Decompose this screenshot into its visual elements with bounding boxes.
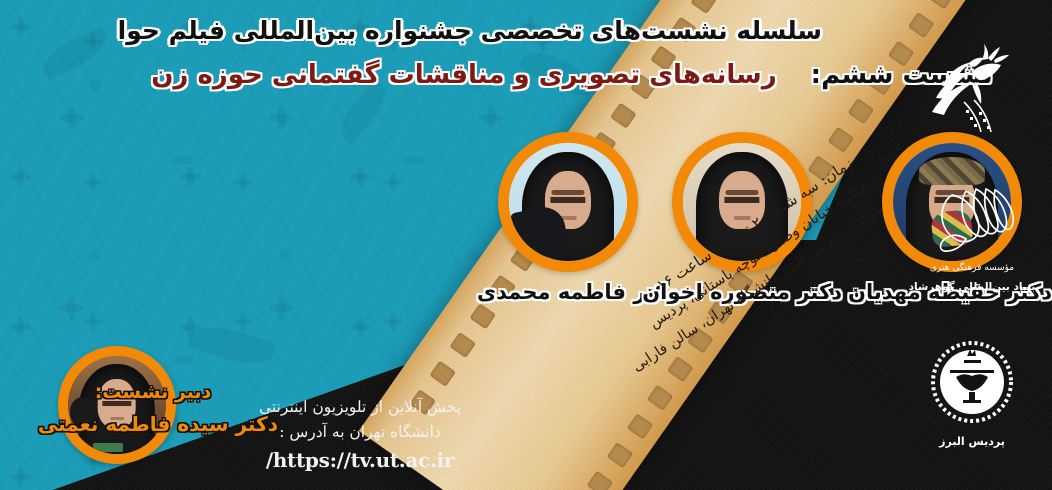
event-poster: سلسله نشست‌های تخصصی جشنواره بین‌المللی … [0,0,1052,490]
broadcast-line-1: پخش آنلاین از تلویزیون اینترنتی [140,398,580,416]
speaker-photo [509,143,627,261]
book-icon [93,443,122,452]
broadcast-block: پخش آنلاین از تلویزیون اینترنتی دانشگاه … [140,398,580,472]
festival-logo [924,40,1020,136]
broadcast-line-2: دانشگاه تهران به آدرس : [140,423,580,441]
avatar [498,132,638,272]
headline-block: سلسله نشست‌های تخصصی جشنواره بین‌المللی … [182,12,822,90]
speaker-card: دکتر فاطمه محمدی [498,132,638,304]
session-line: نشست ششم: رسانه‌های تصویری و مناقشات گفت… [182,60,962,90]
gohar-shad-caption-line2: بنیاد بین‌المللی گوهرشاد [909,280,1036,295]
session-topic-label: رسانه‌های تصویری و مناقشات گفتمانی حوزه … [151,60,776,90]
university-logo: پردیس البرز [930,340,1014,450]
tulip-petals-logo-icon [928,181,1016,253]
hawa-deer-film-logo-icon [924,40,1020,132]
poster-title: سلسله نشست‌های تخصصی جشنواره بین‌المللی … [182,12,822,50]
university-of-tehran-seal-icon [930,340,1014,424]
university-caption: پردیس البرز [930,434,1014,450]
logo-column: مؤسسه فرهنگی هنری بنیاد بین‌المللی گوهرش… [892,0,1052,490]
gohar-shad-logo: مؤسسه فرهنگی هنری بنیاد بین‌المللی گوهرش… [909,181,1036,295]
gohar-shad-caption-line1: مؤسسه فرهنگی هنری [909,262,1036,275]
broadcast-url[interactable]: /https://tv.ut.ac.ir [140,448,580,472]
